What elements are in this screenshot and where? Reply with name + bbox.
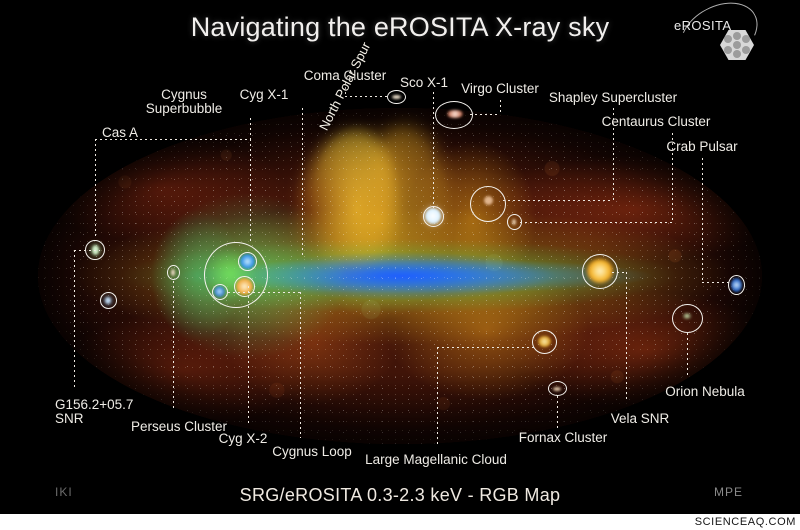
- label-cygnus-superbubble: Cygnus Superbubble: [146, 88, 223, 116]
- label-vela-snr: Vela SNR: [611, 412, 670, 426]
- leader-perseus-cluster: [173, 281, 174, 409]
- marker-cygnus-loop[interactable]: [212, 284, 228, 300]
- marker-crab-pulsar[interactable]: [728, 275, 745, 295]
- credit-mpe: MPE: [714, 485, 743, 499]
- logo-arc: [670, 0, 769, 78]
- label-g156-snr: G156.2+05.7 SNR: [55, 398, 133, 426]
- leader-orion-nebula: [687, 333, 688, 378]
- marker-virgo-cluster[interactable]: [435, 101, 473, 129]
- leader-coma-cluster-h: [345, 96, 389, 97]
- label-perseus-cluster: Perseus Cluster: [131, 420, 227, 434]
- marker-cygnus-superbubble[interactable]: [204, 242, 268, 308]
- marker-cyg-x-1[interactable]: [238, 252, 257, 271]
- leader-crab-pulsar-h: [702, 282, 729, 283]
- erosita-logo: eROSITA: [668, 4, 776, 62]
- label-crab-pulsar: Crab Pulsar: [666, 140, 737, 154]
- credit-iki: IKI: [55, 485, 73, 499]
- leader-fornax-cluster: [557, 396, 558, 428]
- label-sco-x-1: Sco X-1: [400, 76, 448, 90]
- label-fornax-cluster: Fornax Cluster: [519, 431, 608, 445]
- watermark-strip: [0, 514, 800, 530]
- label-shapley-supercluster: Shapley Supercluster: [549, 91, 677, 105]
- label-cas-a: Cas A: [102, 126, 138, 140]
- leader-shapley-h: [503, 200, 613, 201]
- label-cygnus-loop: Cygnus Loop: [272, 445, 352, 459]
- marker-fornax-cluster[interactable]: [548, 381, 567, 396]
- leader-virgo-cluster-v: [500, 100, 501, 114]
- marker-orion-nebula[interactable]: [672, 304, 703, 333]
- watermark: SCIENCEAQ.COM: [695, 514, 796, 530]
- leader-sco-x-1: [433, 92, 434, 208]
- leader-vela-snr-h: [612, 272, 626, 273]
- leader-cygnus-superbubble: [250, 118, 251, 139]
- leader-g156-snr-v: [74, 250, 75, 388]
- marker-perseus-cluster[interactable]: [167, 265, 180, 280]
- marker-large-magellanic-cloud[interactable]: [532, 330, 557, 354]
- leader-g156-snr-h: [74, 250, 100, 251]
- leader-cygnus-loop-h: [228, 292, 300, 293]
- leader-cygnus-loop: [300, 292, 301, 438]
- leader-crab-pulsar-v: [702, 158, 703, 282]
- leader-virgo-cluster-h: [470, 114, 500, 115]
- all-sky-map: [38, 108, 762, 444]
- label-large-magellanic-cloud: Large Magellanic Cloud: [365, 453, 507, 467]
- marker-coma-cluster[interactable]: [387, 90, 406, 104]
- label-cyg-x-2: Cyg X-2: [219, 432, 268, 446]
- leader-cyg-x-1: [302, 108, 303, 256]
- marker-cyg-x-2[interactable]: [234, 276, 255, 297]
- marker-shapley-supercluster[interactable]: [470, 186, 506, 222]
- label-cyg-x-1: Cyg X-1: [240, 88, 289, 102]
- leader-cyg-x-2: [248, 286, 249, 426]
- leader-cas-a: [95, 139, 96, 239]
- marker-g156-snr[interactable]: [100, 292, 117, 309]
- erosita-sky-poster: Navigating the eROSITA X-ray sky eROSITA: [0, 0, 800, 530]
- leader-vela-snr-v: [626, 272, 627, 400]
- leader-lmc-h: [437, 347, 535, 348]
- label-centaurus-cluster: Centaurus Cluster: [602, 115, 711, 129]
- map-vignette: [38, 108, 762, 444]
- leader-cygnus-superbubble-2: [250, 139, 251, 244]
- leader-lmc-v: [437, 347, 438, 447]
- label-orion-nebula: Orion Nebula: [665, 385, 745, 399]
- map-caption: SRG/eROSITA 0.3-2.3 keV - RGB Map: [0, 485, 800, 506]
- logo-wordmark: eROSITA: [674, 18, 731, 33]
- leader-centaurus-h: [520, 222, 672, 223]
- marker-sco-x-1[interactable]: [423, 206, 444, 227]
- label-virgo-cluster: Virgo Cluster: [461, 82, 539, 96]
